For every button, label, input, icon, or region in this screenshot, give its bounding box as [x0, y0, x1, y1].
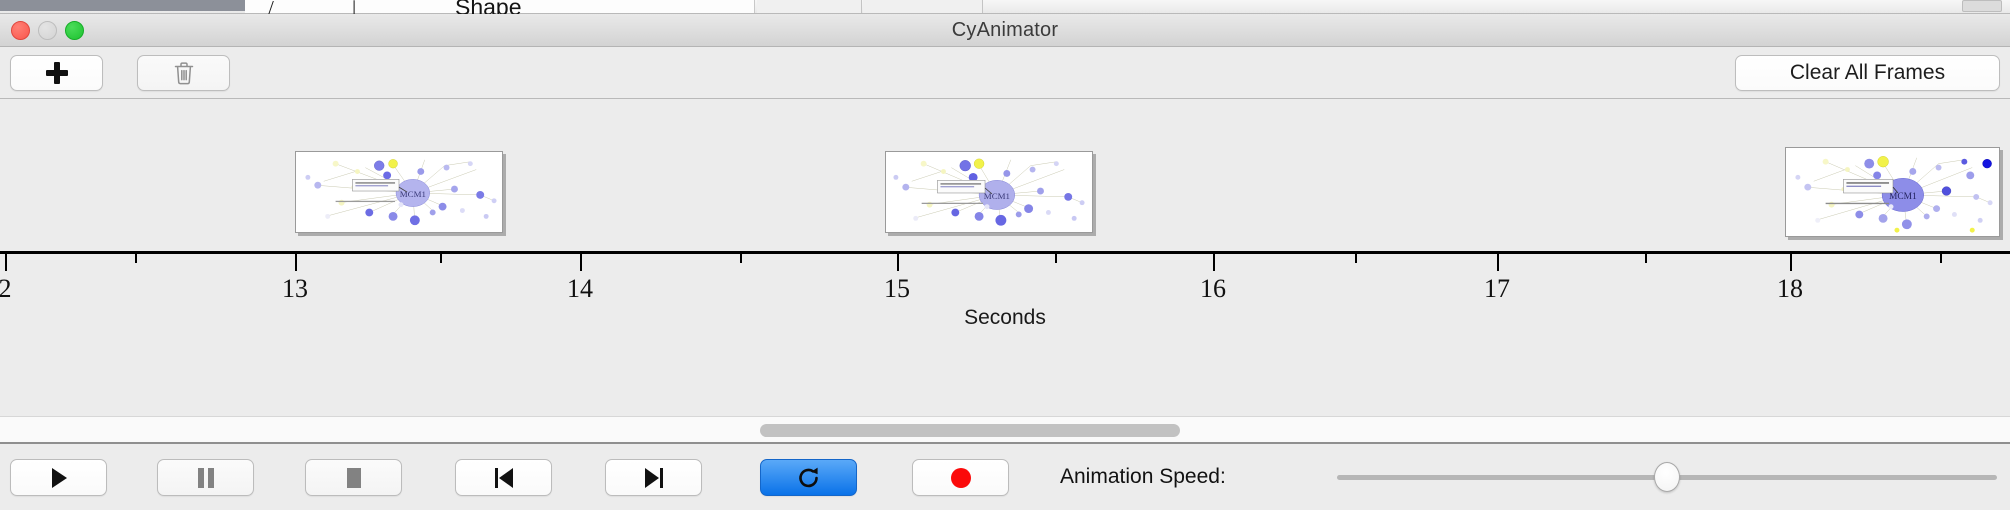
- add-frame-button[interactable]: [10, 55, 103, 91]
- axis-tick-minor: [1645, 254, 1647, 263]
- playback-toolbar: Animation Speed:: [0, 444, 2010, 510]
- axis-tick-major: [5, 254, 7, 271]
- background-window-shape-label: Shape: [455, 0, 522, 14]
- axis-line: [0, 251, 2010, 254]
- axis-tick-label: 2: [0, 274, 12, 304]
- background-window-titlebar-fragment: [0, 0, 245, 11]
- scrollbar-thumb[interactable]: [760, 424, 1180, 437]
- pause-button[interactable]: [157, 459, 254, 496]
- axis-tick-label: 18: [1777, 274, 1803, 304]
- skip-to-end-button[interactable]: [605, 459, 702, 496]
- axis-tick-major: [580, 254, 582, 271]
- axis-tick-label: 15: [884, 274, 910, 304]
- axis-tick-major: [897, 254, 899, 271]
- axis-tick-minor: [1940, 254, 1942, 263]
- axis-tick-major: [1497, 254, 1499, 271]
- background-window-control: [1962, 0, 2002, 12]
- delete-frame-button[interactable]: [137, 55, 230, 91]
- toolbar: Clear All Frames: [0, 47, 2010, 99]
- network-thumbnail: MCM1: [1786, 148, 1999, 236]
- timeline-axis: 2 13 14 15 16 17 18 Seconds: [0, 251, 2010, 337]
- window-controls: [11, 14, 84, 47]
- axis-tick-major: [295, 254, 297, 271]
- record-icon: [949, 466, 973, 490]
- play-button[interactable]: [10, 459, 107, 496]
- loop-button[interactable]: [760, 459, 857, 496]
- axis-tick-label: 17: [1484, 274, 1510, 304]
- axis-tick-minor: [1355, 254, 1357, 263]
- record-button[interactable]: [912, 459, 1009, 496]
- background-window-cell: [863, 0, 983, 13]
- axis-tick-major: [1213, 254, 1215, 271]
- minimize-button[interactable]: [38, 21, 57, 40]
- cyanimator-window: CyAnimator Clear All Frames: [0, 14, 2010, 510]
- timeline-frame-thumbnail[interactable]: MCM1: [1785, 147, 2000, 237]
- close-button[interactable]: [11, 21, 30, 40]
- axis-tick-minor: [440, 254, 442, 263]
- plus-icon: [46, 62, 68, 84]
- network-thumbnail: MCM1: [886, 152, 1092, 232]
- svg-text:MCM1: MCM1: [984, 191, 1010, 201]
- loop-icon: [797, 466, 821, 490]
- skip-forward-icon: [644, 467, 664, 489]
- axis-tick-major: [1790, 254, 1792, 271]
- stop-icon: [345, 467, 363, 489]
- background-window-glyph: /: [268, 0, 274, 14]
- skip-back-icon: [494, 467, 514, 489]
- timeline-frame-thumbnail[interactable]: MCM1: [295, 151, 503, 233]
- timeline-frame-thumbnail[interactable]: MCM1: [885, 151, 1093, 233]
- stop-button[interactable]: [305, 459, 402, 496]
- animation-speed-slider[interactable]: [1337, 462, 1997, 492]
- timeline-scrollbar[interactable]: [0, 416, 2010, 444]
- background-window-cell: [757, 0, 862, 13]
- pause-icon: [197, 467, 215, 489]
- clear-all-frames-button[interactable]: Clear All Frames: [1735, 55, 2000, 91]
- animation-speed-label: Animation Speed:: [1060, 465, 1226, 489]
- axis-tick-label: 13: [282, 274, 308, 304]
- timeline-panel[interactable]: MCM1: [0, 99, 2010, 416]
- axis-tick-label: 14: [567, 274, 593, 304]
- background-window: / | Shape: [0, 0, 2010, 14]
- titlebar: CyAnimator: [0, 14, 2010, 47]
- trash-icon: [173, 61, 195, 85]
- svg-text:MCM1: MCM1: [1889, 192, 1917, 202]
- background-window-glyph: |: [352, 0, 356, 14]
- skip-to-start-button[interactable]: [455, 459, 552, 496]
- axis-tick-label: 16: [1200, 274, 1226, 304]
- axis-tick-minor: [135, 254, 137, 263]
- window-title: CyAnimator: [952, 19, 1058, 42]
- network-thumbnail: MCM1: [296, 152, 502, 232]
- slider-thumb[interactable]: [1654, 462, 1680, 492]
- zoom-button[interactable]: [65, 21, 84, 40]
- axis-title: Seconds: [0, 306, 2010, 330]
- axis-tick-minor: [1055, 254, 1057, 263]
- axis-tick-minor: [740, 254, 742, 263]
- play-icon: [49, 467, 69, 489]
